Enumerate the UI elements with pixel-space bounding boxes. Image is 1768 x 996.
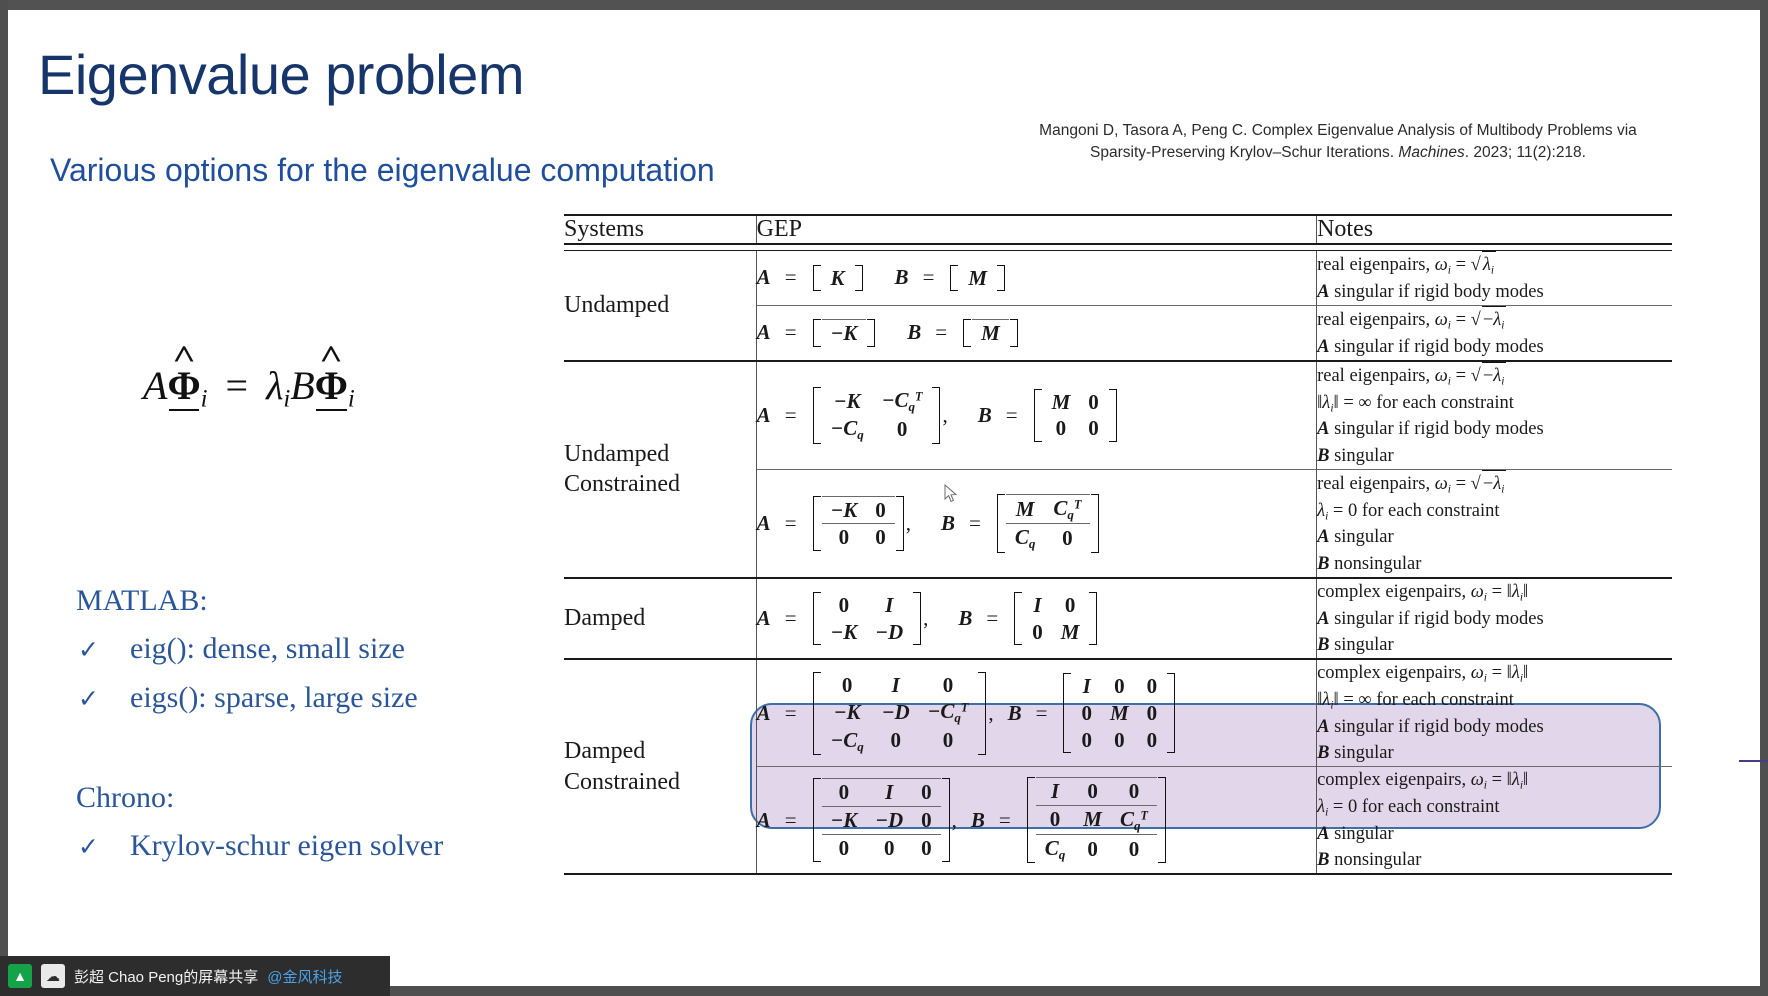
note-line: real eigenpairs, ωi = √−λi — [1317, 470, 1672, 498]
eq-A: A — [143, 363, 167, 408]
eq-equals: = — [226, 363, 249, 408]
gep-formula: A= −K0 00 , B= MCqT Cq0 — [757, 494, 1316, 552]
matrix-B: MCqT Cq0 — [997, 494, 1100, 552]
matrix-B: I00 0MCqT Cq00 — [1027, 777, 1166, 863]
eq-B: B — [290, 363, 314, 408]
table-row: UndampedConstrained A= −K−CqT −Cq0 , B= … — [564, 361, 1672, 469]
cell-gep: A= 0I0 −K−D−CqT −Cq00 , B= I00 0M0 — [756, 659, 1316, 766]
citation-line-1: Mangoni D, Tasora A, Peng C. Complex Eig… — [1039, 122, 1637, 139]
col-header-gep: GEP — [756, 215, 1316, 244]
note-line: real eigenpairs, ωi = √−λi — [1317, 306, 1672, 334]
table-row: Damped A= 0I −K−D , B= I0 — [564, 578, 1672, 659]
note-line: real eigenpairs, ωi = √λi — [1317, 251, 1672, 279]
cell-system: Undamped — [564, 251, 756, 361]
list-item-label: eigs(): sparse, large size — [130, 681, 418, 714]
cell-notes: real eigenpairs, ωi = √−λi λi = 0 for ea… — [1317, 469, 1672, 577]
note-line: B singular — [1317, 443, 1672, 469]
gep-formula: A= 0I0 −K−D0 000 , B= I00 0MCqT — [757, 777, 1316, 863]
check-icon: ✓ — [78, 684, 130, 713]
matrix-A: −K — [813, 319, 876, 347]
cell-notes: complex eigenpairs, ωi = ‖λi‖ λi = 0 for… — [1317, 767, 1672, 874]
cell-system: UndampedConstrained — [564, 361, 756, 578]
table-row-highlighted: DampedConstrained A= 0I0 −K−D−CqT −Cq00 … — [564, 659, 1672, 766]
note-line: B singular — [1317, 632, 1672, 658]
note-line: ‖λi‖ = ∞ for each constraint — [1317, 390, 1672, 417]
list-item-krylov: ✓Krylov-schur eigen solver — [78, 829, 443, 863]
citation-text: Mangoni D, Tasora A, Peng C. Complex Eig… — [943, 120, 1733, 165]
list-item-label: Krylov-schur eigen solver — [130, 829, 443, 862]
cell-gep: A= 0I0 −K−D0 000 , B= I00 0MCqT — [756, 767, 1316, 874]
presentation-slide: Eigenvalue problem Various options for t… — [0, 0, 1768, 996]
note-line: A singular if rigid body modes — [1317, 606, 1672, 632]
cell-gep: A= 0I −K−D , B= I0 0M — [756, 578, 1316, 659]
table-bottom-rule — [564, 874, 1672, 875]
matrix-A: 0I −K−D — [813, 592, 922, 646]
col-header-notes: Notes — [1317, 215, 1672, 244]
note-line: complex eigenpairs, ωi = ‖λi‖ — [1317, 660, 1672, 687]
cell-gep: A= K B= M — [756, 251, 1316, 306]
note-line: A singular if rigid body modes — [1317, 416, 1672, 442]
chrono-label: Chrono: — [76, 781, 174, 815]
matrix-A: −K−CqT −Cq0 — [813, 387, 941, 443]
matrix-B: I0 0M — [1014, 592, 1097, 646]
matrix-B: I00 0M0 000 — [1063, 673, 1175, 753]
cell-gep: A= −K B= M — [756, 305, 1316, 360]
gep-formula: A= 0I −K−D , B= I0 0M — [757, 592, 1316, 646]
screen-share-taskbar[interactable]: ▲ ☁ 彭超 Chao Peng的屏幕共享 @金风科技 — [0, 956, 390, 996]
citation-line-2b: . 2023; 11(2):218. — [1465, 144, 1586, 161]
matrix-B: M0 00 — [1034, 389, 1117, 443]
cell-notes: real eigenpairs, ωi = √−λi A singular if… — [1317, 305, 1672, 360]
eigenvalue-equation: AΦi=λiBΦi — [143, 362, 355, 413]
gep-formula: A= −K B= M — [757, 319, 1316, 347]
gep-formula: A= 0I0 −K−D−CqT −Cq00 , B= I00 0M0 — [757, 672, 1316, 755]
gep-table-container: Systems GEP Notes Undamped A= K — [564, 214, 1672, 875]
note-line: A singular if rigid body modes — [1317, 334, 1672, 360]
eq-phi-1: Φ — [167, 362, 200, 409]
note-line: λi = 0 for each constraint — [1317, 498, 1672, 525]
matrix-A: 0I0 −K−D−CqT −Cq00 — [813, 672, 987, 755]
cell-notes: real eigenpairs, ωi = √−λi ‖λi‖ = ∞ for … — [1317, 361, 1672, 469]
mouse-cursor — [944, 484, 958, 503]
table-row: Undamped A= K B= M real eigenpairs, ωi =… — [564, 251, 1672, 306]
matlab-label: MATLAB: — [76, 584, 208, 618]
cell-gep: A= −K−CqT −Cq0 , B= M0 00 — [756, 361, 1316, 469]
note-line: B nonsingular — [1317, 551, 1672, 577]
window-edge-left — [0, 0, 8, 996]
note-line: complex eigenpairs, ωi = ‖λi‖ — [1317, 767, 1672, 794]
share-status-text: 彭超 Chao Peng的屏幕共享 — [74, 966, 258, 987]
screen-share-icon[interactable]: ▲ — [8, 964, 32, 988]
gep-formula: A= −K−CqT −Cq0 , B= M0 00 — [757, 387, 1316, 443]
slide-canvas: Eigenvalue problem Various options for t… — [8, 10, 1760, 986]
cell-system: Damped — [564, 578, 756, 659]
check-icon: ✓ — [78, 635, 130, 664]
list-item-eigs: ✓eigs(): sparse, large size — [78, 681, 418, 715]
note-line: B singular — [1317, 740, 1672, 766]
matrix-B: M — [963, 319, 1018, 347]
col-header-systems: Systems — [564, 215, 756, 244]
list-item-label: eig(): dense, small size — [130, 632, 405, 665]
bottom-rule — [564, 874, 1672, 875]
matrix-A: 0I0 −K−D0 000 — [813, 778, 950, 861]
note-line: B nonsingular — [1317, 847, 1672, 873]
eq-sub-i-1: i — [201, 385, 208, 412]
note-underline — [1739, 760, 1768, 762]
org-badge: @金风科技 — [267, 966, 342, 987]
slide-subtitle: Various options for the eigenvalue compu… — [50, 152, 715, 189]
note-line: complex eigenpairs, ωi = ‖λi‖ — [1317, 579, 1672, 606]
eq-lambda: λ — [266, 363, 283, 408]
list-item-eig: ✓eig(): dense, small size — [78, 632, 405, 666]
table-header-row: Systems GEP Notes — [564, 215, 1672, 244]
note-line: A singular — [1317, 821, 1672, 847]
gep-table: Systems GEP Notes Undamped A= K — [564, 214, 1672, 875]
matrix-A: K — [813, 265, 863, 292]
page-title: Eigenvalue problem — [38, 42, 524, 107]
note-line: real eigenpairs, ωi = √−λi — [1317, 362, 1672, 390]
cell-gep: A= −K0 00 , B= MCqT Cq0 — [756, 469, 1316, 577]
note-line: λi = 0 for each constraint — [1317, 794, 1672, 821]
note-line: A singular if rigid body modes — [1317, 714, 1672, 740]
cell-system: DampedConstrained — [564, 659, 756, 874]
eq-sub-i-3: i — [348, 385, 355, 412]
check-icon: ✓ — [78, 832, 130, 861]
cell-notes: real eigenpairs, ωi = √λi A singular if … — [1317, 251, 1672, 306]
window-edge-right — [1760, 0, 1768, 996]
note-line: A singular — [1317, 524, 1672, 550]
cell-notes: complex eigenpairs, ωi = ‖λi‖ ‖λi‖ = ∞ f… — [1317, 659, 1672, 766]
eq-phi-2: Φ — [315, 362, 348, 409]
matrix-A: −K0 00 — [813, 496, 904, 552]
note-line: A singular if rigid body modes — [1317, 279, 1672, 305]
citation-journal: Machines — [1398, 144, 1464, 161]
gep-formula: A= K B= M — [757, 265, 1316, 292]
cell-notes: complex eigenpairs, ωi = ‖λi‖ A singular… — [1317, 578, 1672, 659]
note-line-underlined: ‖λi‖ = ∞ for each constraint — [1317, 687, 1672, 714]
citation-line-2a: Sparsity-Preserving Krylov–Schur Iterati… — [1090, 144, 1398, 161]
window-edge-top — [0, 0, 1768, 10]
chat-icon[interactable]: ☁ — [41, 964, 65, 988]
matrix-B: M — [950, 265, 1005, 292]
